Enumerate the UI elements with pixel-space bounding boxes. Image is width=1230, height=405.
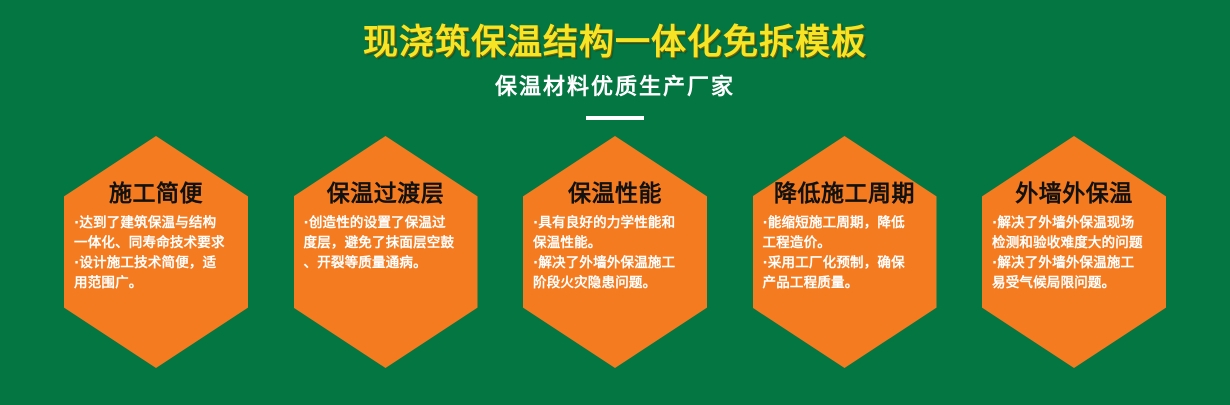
hexagon-body: ·创造性的设置了保温过 度层，避免了抹面层空鼓 、开裂等质量通病。 [300,213,472,273]
title-divider [586,116,644,120]
body-line: 检测和验收难度大的问题 [992,233,1156,253]
hexagon-content: 保温过渡层 ·创造性的设置了保温过 度层，避免了抹面层空鼓 、开裂等质量通病。 [300,180,472,273]
body-line: 用范围广。 [74,273,238,293]
body-line: 产品工程质量。 [763,273,927,293]
body-line: ·能缩短施工周期，降低 [763,213,927,233]
body-line: ·采用工厂化预制，确保 [763,253,927,273]
body-line: ·达到了建筑保温与结构 [74,213,238,233]
body-line: ·创造性的设置了保温过 [304,213,468,233]
hexagon-title: 降低施工周期 [759,180,931,208]
main-title: 现浇筑保温结构一体化免拆模板 [0,0,1230,65]
promo-banner: 现浇筑保温结构一体化免拆模板 保温材料优质生产厂家 施工简便 ·达到了建筑保温与… [0,0,1230,405]
body-line: 度层，避免了抹面层空鼓 [304,233,468,253]
body-line: 一体化、同寿命技术要求 [74,233,238,253]
body-line: ·解决了外墙外保温施工 [533,253,697,273]
hexagon-content: 保温性能 ·具有良好的力学性能和 保温性能。 ·解决了外墙外保温施工 阶段火灾隐… [529,180,701,293]
hexagon-title: 外墙外保温 [988,180,1160,208]
feature-hexagon-3[interactable]: 保温性能 ·具有良好的力学性能和 保温性能。 ·解决了外墙外保温施工 阶段火灾隐… [523,136,707,368]
banner-header: 现浇筑保温结构一体化免拆模板 保温材料优质生产厂家 [0,0,1230,120]
feature-hexagon-row: 施工简便 ·达到了建筑保温与结构 一体化、同寿命技术要求 ·设计施工技术简便，适… [64,136,1166,368]
sub-title: 保温材料优质生产厂家 [0,65,1230,102]
body-line: ·解决了外墙外保温现场 [992,213,1156,233]
hexagon-title: 保温过渡层 [300,180,472,208]
body-line: 保温性能。 [533,233,697,253]
hexagon-body: ·具有良好的力学性能和 保温性能。 ·解决了外墙外保温施工 阶段火灾隐患问题。 [529,213,701,293]
body-line: ·设计施工技术简便，适 [74,253,238,273]
hexagon-content: 降低施工周期 ·能缩短施工周期，降低 工程造价。 ·采用工厂化预制，确保 产品工… [759,180,931,293]
hexagon-body: ·达到了建筑保温与结构 一体化、同寿命技术要求 ·设计施工技术简便，适 用范围广… [70,213,242,293]
hexagon-content: 施工简便 ·达到了建筑保温与结构 一体化、同寿命技术要求 ·设计施工技术简便，适… [70,180,242,293]
body-line: 阶段火灾隐患问题。 [533,273,697,293]
body-line: 工程造价。 [763,233,927,253]
body-line: ·解决了外墙外保温施工 [992,253,1156,273]
feature-hexagon-1[interactable]: 施工简便 ·达到了建筑保温与结构 一体化、同寿命技术要求 ·设计施工技术简便，适… [64,136,248,368]
feature-hexagon-5[interactable]: 外墙外保温 ·解决了外墙外保温现场 检测和验收难度大的问题 ·解决了外墙外保温施… [982,136,1166,368]
body-line: 、开裂等质量通病。 [304,253,468,273]
body-line: ·具有良好的力学性能和 [533,213,697,233]
hexagon-body: ·能缩短施工周期，降低 工程造价。 ·采用工厂化预制，确保 产品工程质量。 [759,213,931,293]
hexagon-title: 保温性能 [529,180,701,208]
hexagon-title: 施工简便 [70,180,242,208]
body-line: 易受气候局限问题。 [992,273,1156,293]
hexagon-content: 外墙外保温 ·解决了外墙外保温现场 检测和验收难度大的问题 ·解决了外墙外保温施… [988,180,1160,293]
feature-hexagon-2[interactable]: 保温过渡层 ·创造性的设置了保温过 度层，避免了抹面层空鼓 、开裂等质量通病。 [294,136,478,368]
feature-hexagon-4[interactable]: 降低施工周期 ·能缩短施工周期，降低 工程造价。 ·采用工厂化预制，确保 产品工… [753,136,937,368]
hexagon-body: ·解决了外墙外保温现场 检测和验收难度大的问题 ·解决了外墙外保温施工 易受气候… [988,213,1160,293]
